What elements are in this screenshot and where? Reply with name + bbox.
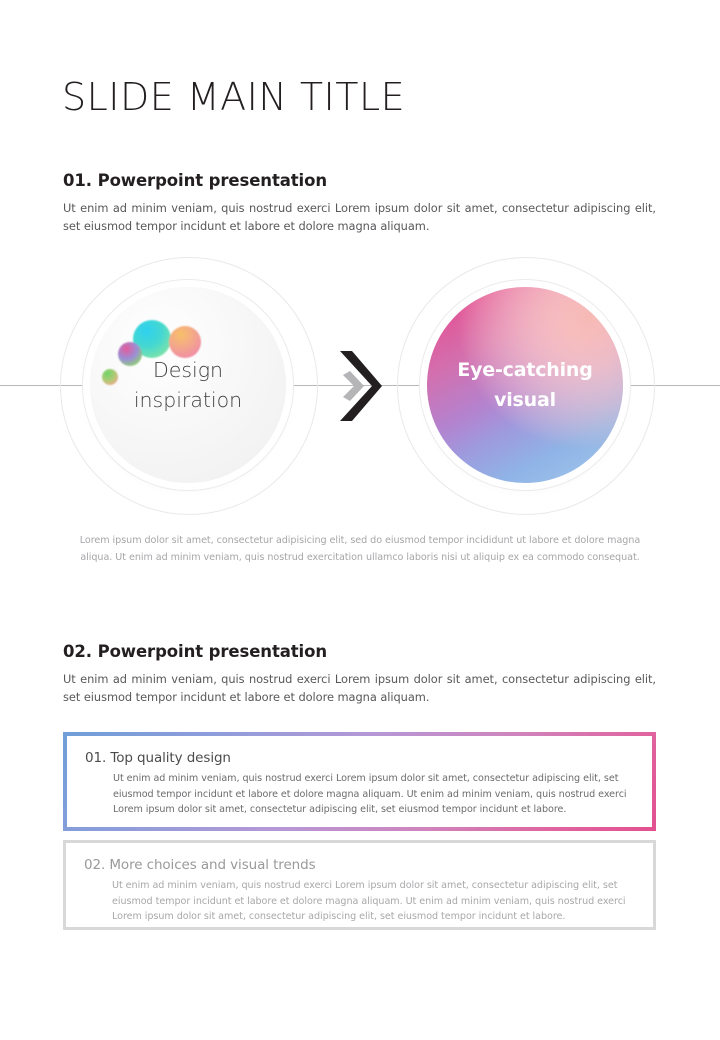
page-title: SLIDE MAIN TITLE xyxy=(62,74,405,120)
slide-canvas: SLIDE MAIN TITLE 01. Powerpoint presenta… xyxy=(0,0,720,1040)
section-02: 02. Powerpoint presentation Ut enim ad m… xyxy=(63,641,656,706)
section-01-body: Ut enim ad minim veniam, quis nostrud ex… xyxy=(63,199,656,235)
left-circle-label-line2: inspiration xyxy=(90,385,286,415)
diagram-caption: Lorem ipsum dolor sit amet, consectetur … xyxy=(70,532,650,566)
design-inspiration-circle[interactable]: Design inspiration xyxy=(90,287,286,483)
section-01-heading: 01. Powerpoint presentation xyxy=(63,170,656,192)
card-02-inner: 02. More choices and visual trends Ut en… xyxy=(66,843,653,927)
left-circle-label-line1: Design xyxy=(90,355,286,385)
right-circle-label-line1: Eye-catching xyxy=(427,355,623,385)
right-circle-label: Eye-catching visual xyxy=(427,355,623,415)
card-top-quality-design[interactable]: 01. Top quality design Ut enim ad minim … xyxy=(63,732,656,831)
left-circle-label: Design inspiration xyxy=(90,355,286,415)
card-01-body: Ut enim ad minim veniam, quis nostrud ex… xyxy=(85,771,634,818)
section-01: 01. Powerpoint presentation Ut enim ad m… xyxy=(63,170,656,235)
section-02-heading: 02. Powerpoint presentation xyxy=(63,641,656,663)
right-circle-label-line2: visual xyxy=(427,385,623,415)
process-diagram: Design inspiration Eye-catching visual xyxy=(0,250,720,525)
section-02-body: Ut enim ad minim veniam, quis nostrud ex… xyxy=(63,670,656,706)
card-more-choices-visual-trends[interactable]: 02. More choices and visual trends Ut en… xyxy=(63,840,656,930)
card-01-title: 01. Top quality design xyxy=(85,749,634,768)
card-01-inner: 01. Top quality design Ut enim ad minim … xyxy=(67,736,652,827)
chevron-right-icon xyxy=(338,349,382,423)
card-02-body: Ut enim ad minim veniam, quis nostrud ex… xyxy=(84,878,635,925)
eye-catching-visual-circle[interactable]: Eye-catching visual xyxy=(427,287,623,483)
card-02-title: 02. More choices and visual trends xyxy=(84,856,635,875)
